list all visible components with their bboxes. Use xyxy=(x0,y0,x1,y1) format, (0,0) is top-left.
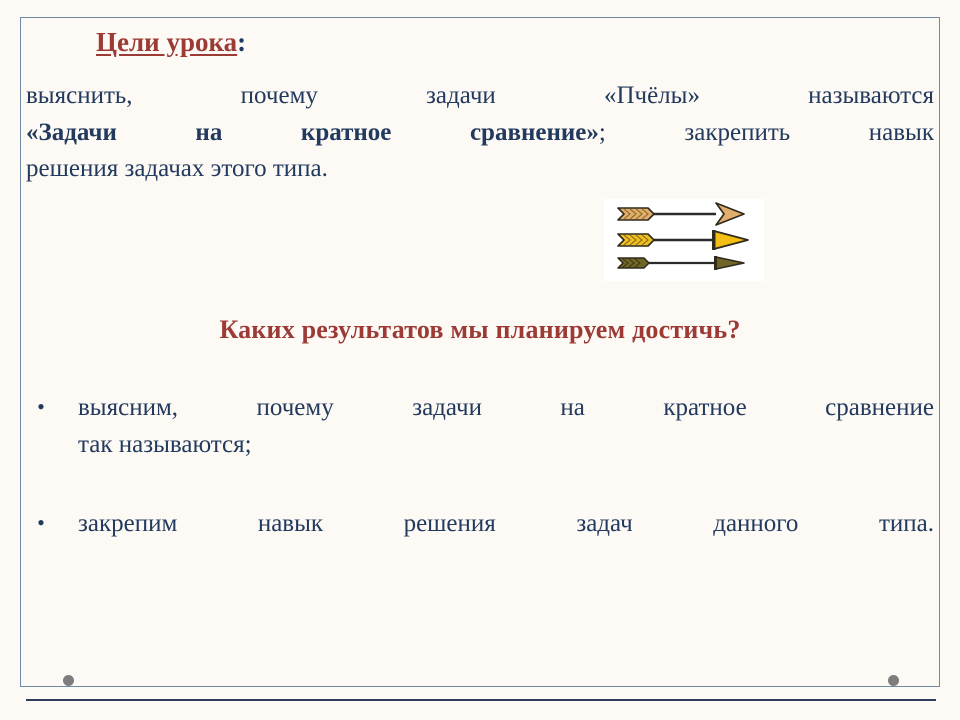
bottom-rule-divider xyxy=(26,699,936,701)
slide-title-text: Цели урока xyxy=(96,27,237,57)
intro-line-1: выяснить, почему задачи «Пчёлы» называют… xyxy=(26,78,934,115)
decorative-dot-right xyxy=(888,675,899,686)
list-item: • выясним, почему задачи на кратное срав… xyxy=(26,389,934,463)
decorative-dot-left xyxy=(63,675,74,686)
bullet-2-body: закрепим навык решения задач данного тип… xyxy=(78,505,934,542)
intro-line-3: решения задачах этого типа. xyxy=(26,151,934,188)
slide-title: Цели урока: xyxy=(96,28,246,58)
question-heading: Каких результатов мы планируем достичь? xyxy=(0,315,960,345)
list-item: • закрепим навык решения задач данного т… xyxy=(26,505,934,542)
bullet-1-line-2: так называются; xyxy=(78,426,934,463)
slide-canvas: Цели урока: выяснить, почему задачи «Пчё… xyxy=(0,0,960,720)
intro-paragraph: выяснить, почему задачи «Пчёлы» называют… xyxy=(26,78,934,188)
arrows-svg xyxy=(604,199,764,281)
bullet-1-line-1: выясним, почему задачи на кратное сравне… xyxy=(78,389,934,426)
slide-title-colon: : xyxy=(237,27,246,57)
intro-bold-phrase: «Задачи на кратное сравнение» xyxy=(26,119,599,146)
bullet-2-line-1: закрепим навык решения задач данного тип… xyxy=(78,505,934,542)
bullet-marker-icon: • xyxy=(26,391,56,424)
bullet-1-body: выясним, почему задачи на кратное сравне… xyxy=(78,389,934,463)
bullet-marker-icon: • xyxy=(26,507,56,540)
intro-line-2-rest: ; закрепить навык xyxy=(599,119,934,146)
intro-line-2: «Задачи на кратное сравнение»; закрепить… xyxy=(26,115,934,152)
three-arrows-image xyxy=(604,199,764,281)
